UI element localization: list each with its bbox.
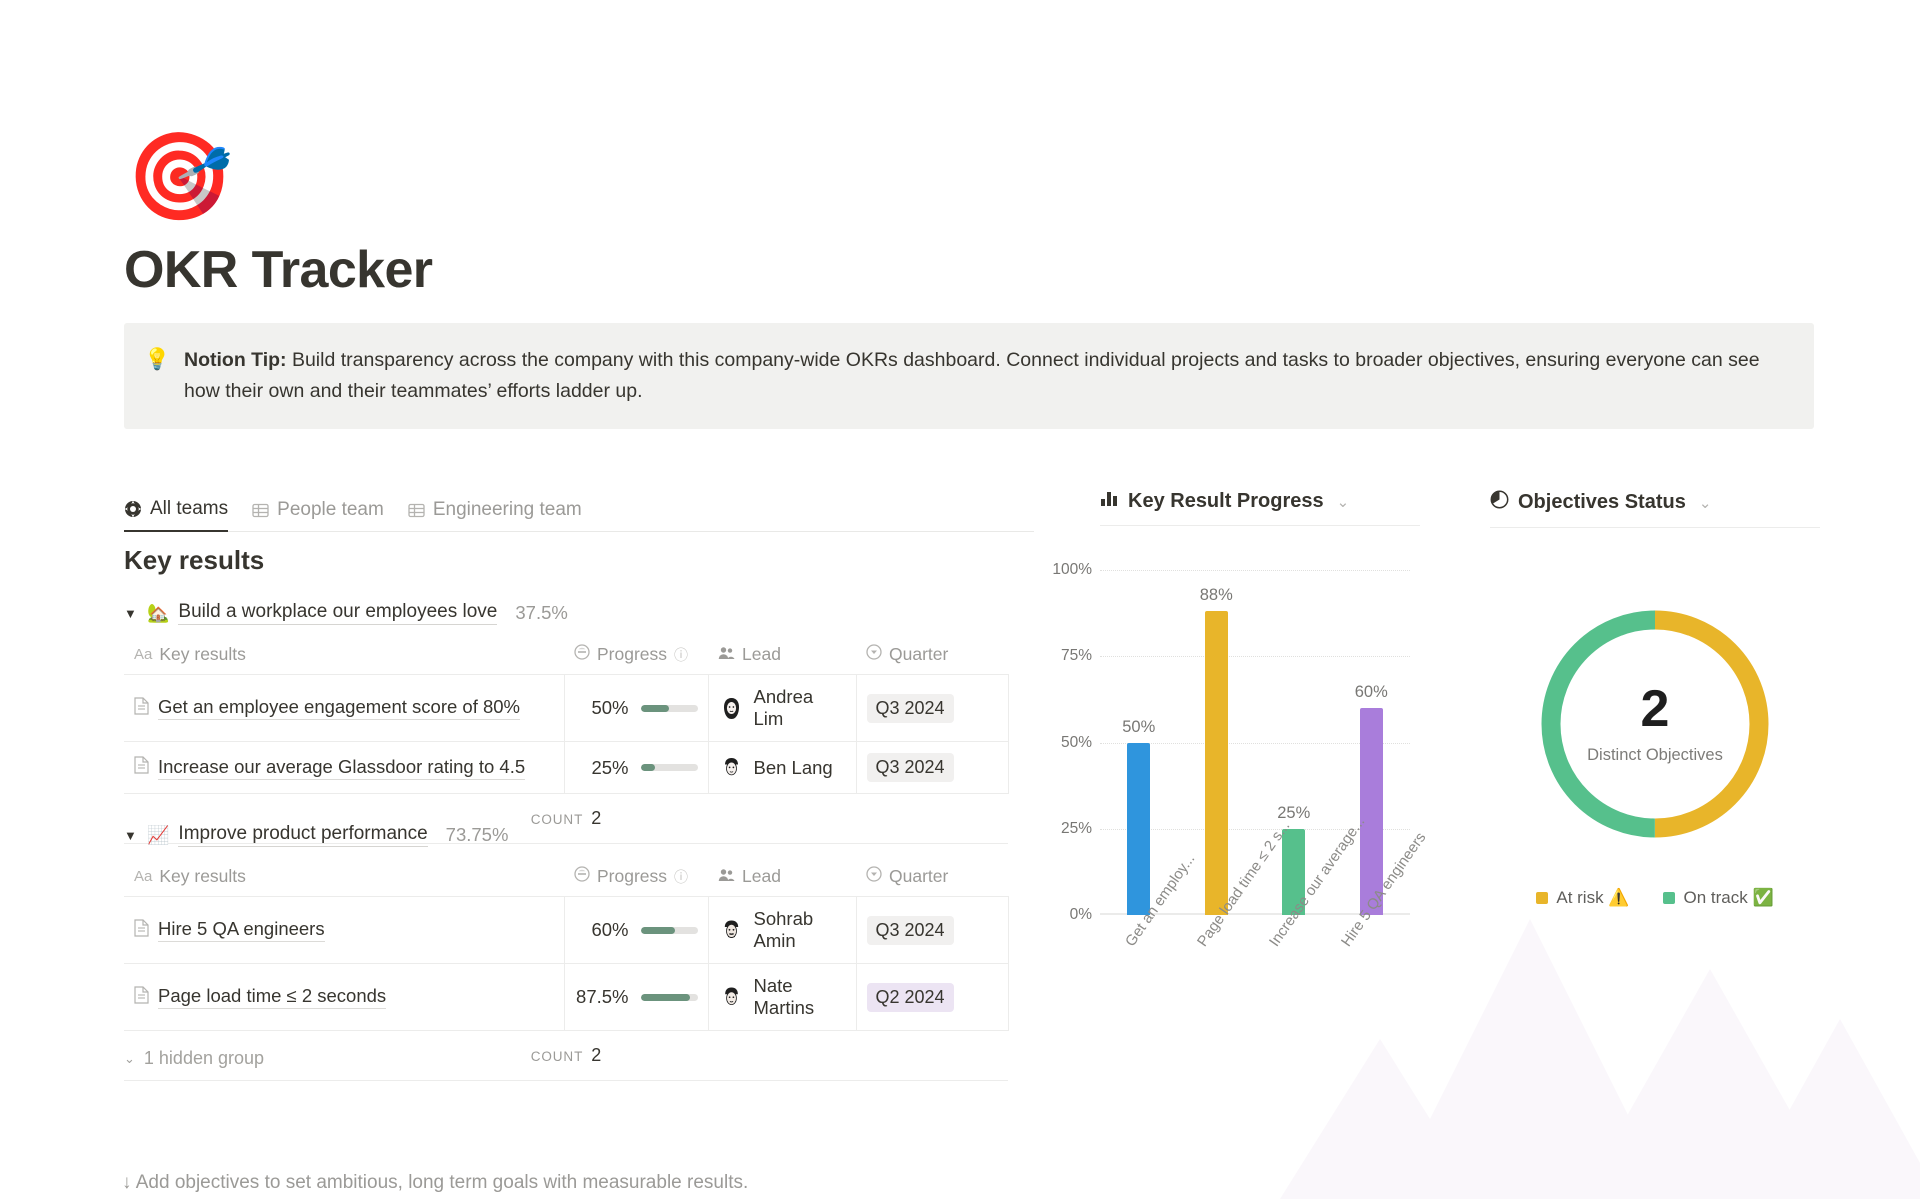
col-label: Key results [159, 866, 246, 887]
progress-value: 60% [575, 919, 629, 941]
chevron-down-icon[interactable]: ⌄ [1337, 493, 1350, 511]
key-result-title: Increase our average Glassdoor rating to… [158, 756, 525, 780]
col-label: Lead [742, 644, 781, 665]
cell-progress[interactable]: 87.5% [564, 964, 708, 1031]
col-lead[interactable]: Lead [708, 858, 856, 897]
bar[interactable]: 50% [1127, 743, 1150, 916]
section-heading: Key results [124, 545, 264, 576]
table-row[interactable]: Increase our average Glassdoor rating to… [124, 742, 1008, 794]
progress-value: 50% [575, 697, 629, 719]
chart-title: Objectives Status [1518, 491, 1686, 514]
progress-bar [641, 927, 698, 934]
aa-icon: Aa [134, 646, 152, 663]
col-label: Progress [597, 866, 667, 887]
key-result-title: Hire 5 QA engineers [158, 918, 325, 942]
y-tick-label: 0% [1070, 906, 1092, 924]
objectives-status-panel: Objectives Status ⌄ 2 Distinct Objective… [1490, 490, 1820, 908]
chevron-down-icon[interactable]: ⌄ [1699, 494, 1712, 512]
col-progress[interactable]: Progress ⓘ [564, 636, 708, 675]
legend-swatch [1663, 892, 1675, 904]
okr-tracker-page: 🎯 OKR Tracker 💡 Notion Tip: Build transp… [0, 0, 1920, 1199]
group-header[interactable]: ▼ 🏡 Build a workplace our employees love… [124, 596, 1034, 630]
footer-hint: ↓ Add objectives to set ambitious, long … [122, 1172, 748, 1194]
lead-name: Andrea Lim [754, 686, 846, 730]
avatar [719, 918, 744, 943]
col-key-results[interactable]: AaKey results [124, 858, 564, 897]
view-tabs: All teams People team Engineering team [124, 490, 1034, 532]
key-results-table: AaKey results Progress ⓘ Lead Quarter [124, 858, 1009, 1031]
table-icon [252, 502, 269, 519]
formula-icon [574, 644, 590, 665]
objective-group: ▼ 📈 Improve product performance 73.75% A… [124, 818, 1034, 1081]
bar-value-label: 88% [1200, 586, 1233, 605]
legend-label: At risk ⚠️ [1556, 888, 1629, 908]
tab-label: Engineering team [433, 499, 582, 521]
tab-people-team[interactable]: People team [252, 499, 384, 531]
col-key-results[interactable]: AaKey results [124, 636, 564, 675]
lead-name: Nate Martins [754, 975, 846, 1019]
page-icon-target[interactable]: 🎯 [126, 129, 222, 225]
status-badge: Q3 2024 [867, 916, 954, 945]
key-results-table: AaKey results Progress ⓘ Lead Quarter [124, 636, 1009, 794]
table-icon [408, 502, 425, 519]
progress-value: 25% [575, 757, 629, 779]
y-tick-label: 25% [1061, 820, 1092, 838]
cell-quarter[interactable]: Q3 2024 [856, 675, 1008, 742]
lead-name: Ben Lang [754, 757, 833, 779]
legend-item-at-risk[interactable]: At risk ⚠️ [1536, 888, 1629, 908]
cell-lead[interactable]: Sohrab Amin [708, 897, 856, 964]
table-header-row: AaKey results Progress ⓘ Lead Quarter [124, 858, 1008, 897]
chart-header[interactable]: Key Result Progress ⌄ [1100, 490, 1420, 526]
y-tick-label: 50% [1061, 734, 1092, 752]
bar-column[interactable]: 50% [1118, 570, 1160, 915]
bar-column[interactable]: 60% [1350, 570, 1392, 915]
lightbulb-icon: 💡 [144, 345, 170, 374]
progress-bar [641, 994, 698, 1001]
info-icon[interactable]: ⓘ [674, 867, 688, 887]
count-label: COUNT [531, 1049, 584, 1064]
col-label: Quarter [889, 644, 948, 665]
col-label: Lead [742, 866, 781, 887]
progress-bar [641, 705, 698, 712]
group-header[interactable]: ▼ 📈 Improve product performance 73.75% [124, 818, 1034, 852]
page-title: OKR Tracker [124, 240, 432, 300]
cell-quarter[interactable]: Q3 2024 [856, 742, 1008, 794]
table-row[interactable]: Get an employee engagement score of 80% … [124, 675, 1008, 742]
status-badge: Q2 2024 [867, 983, 954, 1012]
tab-label: All teams [150, 498, 228, 520]
x-axis-labels: Get an employ... Page load time ≤ 2 s...… [1100, 922, 1410, 1042]
person-icon [718, 644, 735, 665]
person-icon [718, 866, 735, 887]
tab-engineering-team[interactable]: Engineering team [408, 499, 582, 531]
pie-chart-icon [1490, 490, 1509, 515]
callout-body: Build transparency across the company wi… [184, 349, 1760, 402]
tab-all-teams[interactable]: All teams [124, 498, 228, 532]
cell-key-result[interactable]: Get an employee engagement score of 80% [124, 675, 564, 742]
cell-lead[interactable]: Andrea Lim [708, 675, 856, 742]
avatar [719, 696, 744, 721]
bar-column[interactable]: 88% [1195, 570, 1237, 915]
count-value: 2 [591, 1045, 601, 1066]
info-icon[interactable]: ⓘ [674, 645, 688, 665]
avatar [719, 755, 744, 780]
key-result-title: Get an employee engagement score of 80% [158, 696, 520, 720]
group-title[interactable]: Build a workplace our employees love [178, 601, 497, 625]
col-progress[interactable]: Progress ⓘ [564, 858, 708, 897]
page-icon [134, 756, 149, 779]
progress-value: 87.5% [575, 986, 629, 1008]
cell-key-result[interactable]: Hire 5 QA engineers [124, 897, 564, 964]
bar[interactable]: 88% [1205, 611, 1228, 915]
table-header-row: AaKey results Progress ⓘ Lead Quarter [124, 636, 1008, 675]
objective-group: ▼ 🏡 Build a workplace our employees love… [124, 596, 1034, 844]
progress-bar [641, 764, 698, 771]
tab-label: People team [277, 499, 384, 521]
formula-icon [574, 866, 590, 887]
legend-label: On track ✅ [1683, 888, 1773, 908]
chart-header[interactable]: Objectives Status ⌄ [1490, 490, 1820, 528]
cell-quarter[interactable]: Q2 2024 [856, 964, 1008, 1031]
bar-column[interactable]: 25% [1273, 570, 1315, 915]
callout-label: Notion Tip: [184, 349, 287, 371]
cell-lead[interactable]: Ben Lang [708, 742, 856, 794]
cell-progress[interactable]: 60% [564, 897, 708, 964]
target-icon [124, 500, 142, 518]
hidden-group-label: 1 hidden group [144, 1048, 264, 1069]
notion-tip-callout: 💡 Notion Tip: Build transparency across … [124, 323, 1814, 429]
group-percent: 73.75% [446, 824, 509, 846]
col-quarter[interactable]: Quarter [856, 858, 1008, 897]
status-badge: Q3 2024 [867, 694, 954, 723]
cell-lead[interactable]: Nate Martins [708, 964, 856, 1031]
hidden-group-toggle[interactable]: ⌄ 1 hidden group [124, 1048, 264, 1069]
col-label: Key results [159, 644, 246, 665]
donut-center: 2 Distinct Objectives [1535, 604, 1775, 844]
bar-chart: 100% 75% 50% 25% 0% 50% 88% [1100, 570, 1410, 915]
aa-icon: Aa [134, 868, 152, 885]
donut-chart[interactable]: 2 Distinct Objectives [1535, 604, 1775, 844]
donut-legend: At risk ⚠️ On track ✅ [1490, 888, 1820, 908]
chevron-down-icon: ⌄ [124, 1051, 135, 1067]
legend-item-on-track[interactable]: On track ✅ [1663, 888, 1773, 908]
select-icon [866, 866, 882, 887]
cell-quarter[interactable]: Q3 2024 [856, 897, 1008, 964]
key-result-title: Page load time ≤ 2 seconds [158, 985, 386, 1009]
cell-key-result[interactable]: Increase our average Glassdoor rating to… [124, 742, 564, 794]
group-emoji: 📈 [147, 825, 169, 846]
chevron-down-icon[interactable]: ▼ [124, 606, 138, 621]
group-title[interactable]: Improve product performance [178, 823, 427, 847]
cell-key-result[interactable]: Page load time ≤ 2 seconds [124, 964, 564, 1031]
cell-progress[interactable]: 25% [564, 742, 708, 794]
group-percent: 37.5% [515, 602, 567, 624]
page-icon [134, 919, 149, 942]
col-quarter[interactable]: Quarter [856, 636, 1008, 675]
chart-title: Key Result Progress [1128, 490, 1324, 513]
select-icon [866, 644, 882, 665]
donut-value: 2 [1641, 683, 1670, 735]
legend-swatch [1536, 892, 1548, 904]
group-emoji: 🏡 [147, 603, 169, 624]
status-badge: Q3 2024 [867, 753, 954, 782]
key-result-progress-panel: Key Result Progress ⌄ 100% 75% 50% 25% 0… [1100, 490, 1420, 915]
page-icon [134, 986, 149, 1009]
cell-progress[interactable]: 50% [564, 675, 708, 742]
callout-text: Notion Tip: Build transparency across th… [184, 345, 1794, 407]
bar-value-label: 60% [1355, 683, 1388, 702]
col-label: Progress [597, 644, 667, 665]
y-tick-label: 100% [1052, 561, 1092, 579]
table-row[interactable]: Page load time ≤ 2 seconds 87.5% [124, 964, 1008, 1031]
page-icon [134, 697, 149, 720]
bar-value-label: 50% [1122, 718, 1155, 737]
lead-name: Sohrab Amin [754, 908, 846, 952]
col-label: Quarter [889, 866, 948, 887]
table-row[interactable]: Hire 5 QA engineers 60% [124, 897, 1008, 964]
bar-chart-icon [1100, 490, 1119, 513]
col-lead[interactable]: Lead [708, 636, 856, 675]
donut-label: Distinct Objectives [1587, 746, 1723, 765]
y-tick-label: 75% [1061, 647, 1092, 665]
avatar [719, 985, 744, 1010]
chevron-down-icon[interactable]: ▼ [124, 828, 138, 843]
